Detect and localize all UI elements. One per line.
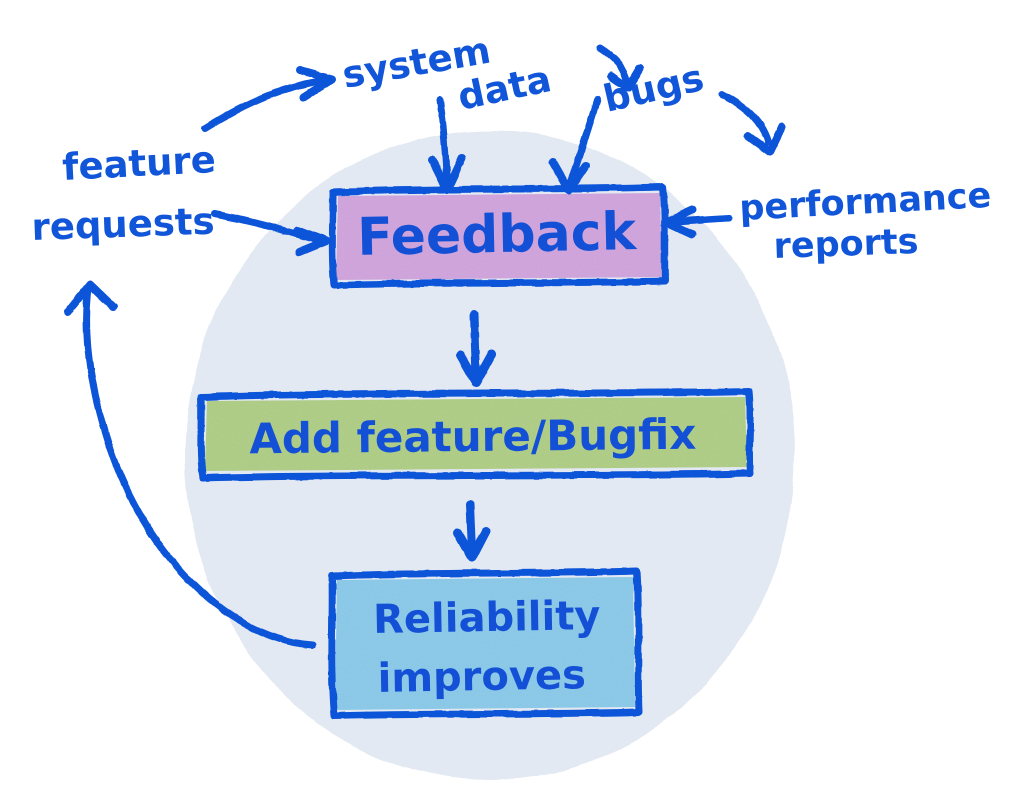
label-performance-reports-line1: performance [738,176,992,229]
node-add-feature-bugfix-label: Add feature/Bugfix [249,410,697,464]
label-feature-requests-line2: requests [31,200,215,249]
diagram-canvas: Feedback Add feature/Bugfix Reliability … [0,0,1034,811]
node-reliability-improves-label-line2: improves [377,652,586,702]
label-bugs: bugs [599,56,707,121]
text-layer: Feedback Add feature/Bugfix Reliability … [0,0,1034,811]
label-feature-requests-line1: feature [61,138,217,189]
label-performance-reports-line2: reports [773,222,919,267]
node-reliability-improves-label-line1: Reliability [373,593,601,643]
node-feedback-label: Feedback [357,202,639,268]
